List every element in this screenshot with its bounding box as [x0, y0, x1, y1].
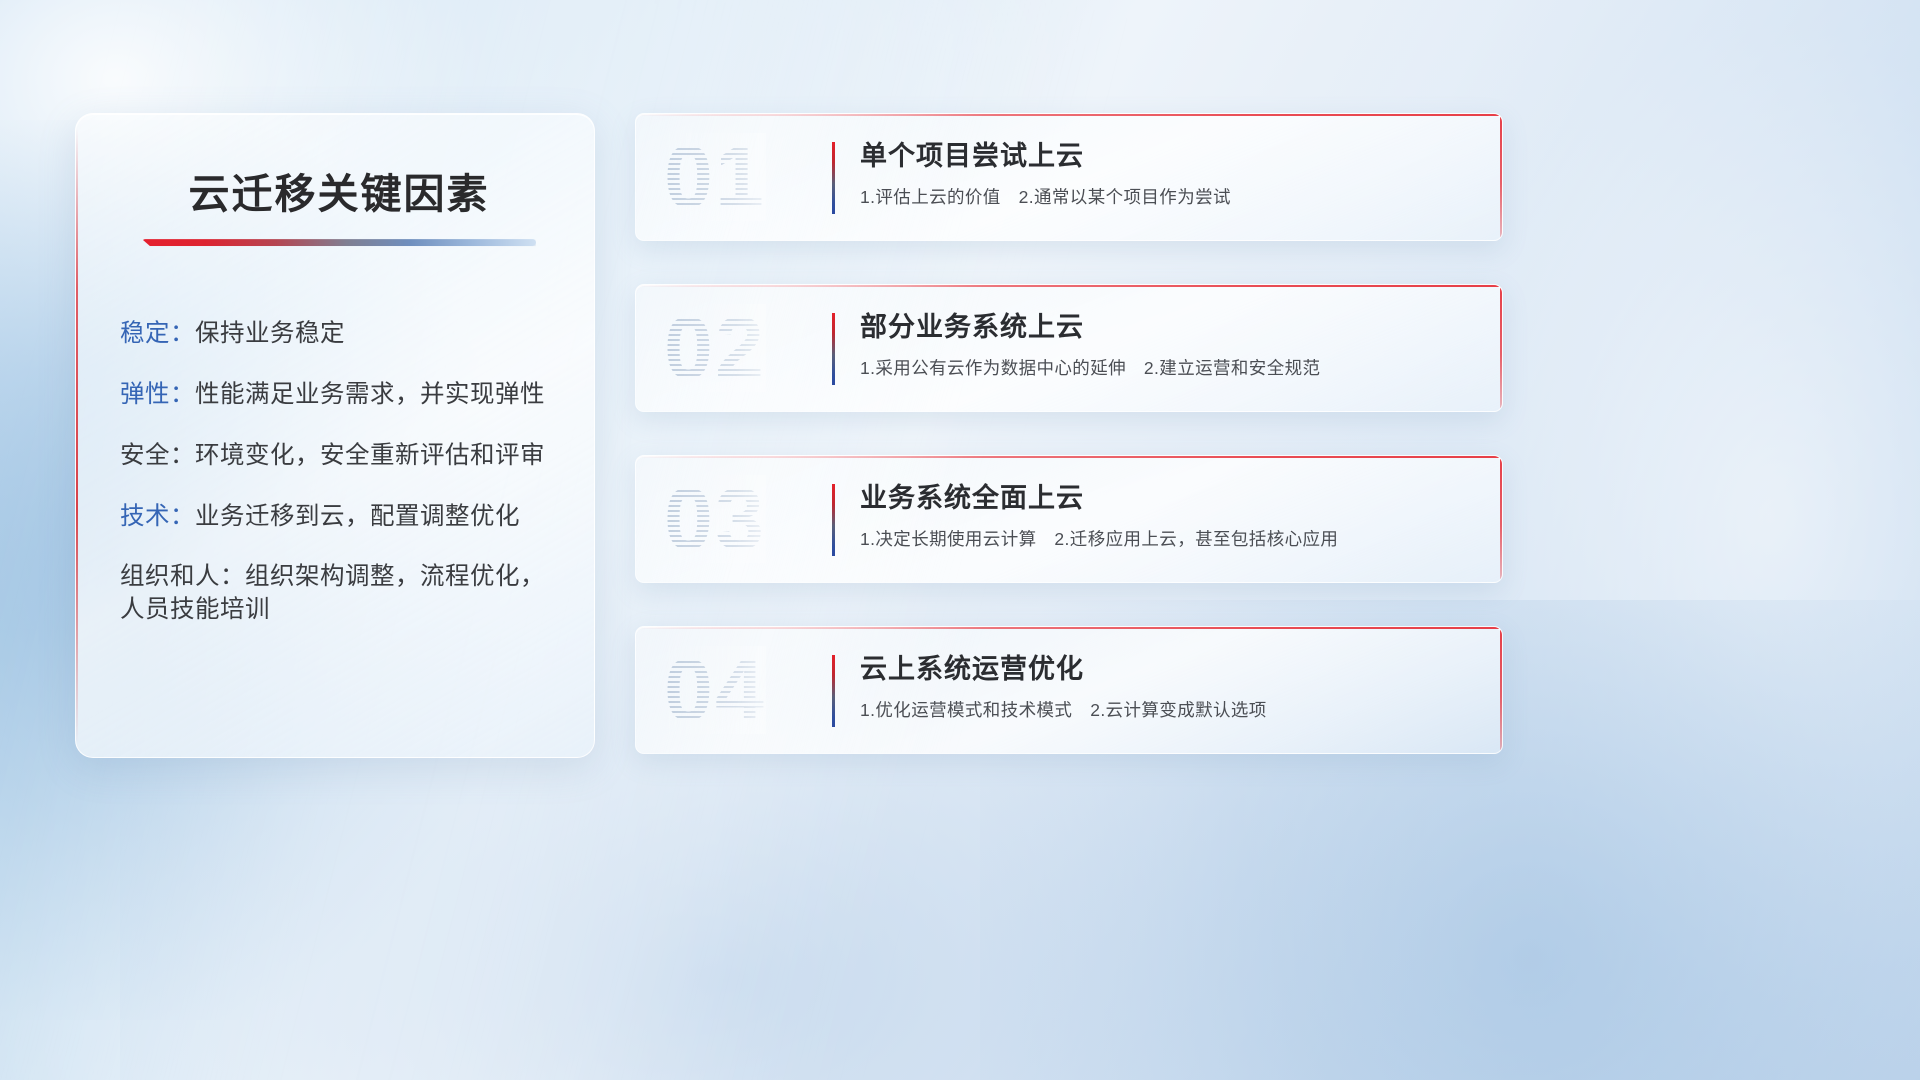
stage-title: 云上系统运营优化 [860, 653, 1462, 685]
title-underline-gradient [142, 239, 536, 246]
card-right-accent-line [1500, 285, 1502, 411]
stage-title: 部分业务系统上云 [860, 311, 1462, 343]
stage-divider-bar [832, 313, 835, 385]
stage-description: 1.优化运营模式和技术模式 2.云计算变成默认选项 [860, 699, 1462, 722]
migration-stage-card[interactable]: 03业务系统全面上云1.决定长期使用云计算 2.迁移应用上云，甚至包括核心应用 [635, 455, 1503, 583]
stage-divider-bar [832, 142, 835, 214]
migration-stage-card[interactable]: 02部分业务系统上云1.采用公有云作为数据中心的延伸 2.建立运营和安全规范 [635, 284, 1503, 412]
key-factor-label: 技术： [120, 503, 195, 530]
stage-title: 业务系统全面上云 [860, 482, 1462, 514]
stage-description: 1.评估上云的价值 2.通常以某个项目作为尝试 [860, 186, 1462, 209]
key-factor-text: 保持业务稳定 [195, 320, 345, 347]
migration-stages-list: 01单个项目尝试上云1.评估上云的价值 2.通常以某个项目作为尝试02部分业务系… [635, 113, 1503, 754]
key-factor-label: 弹性： [120, 381, 195, 408]
page-title: 云迁移关键因素 [120, 172, 558, 217]
key-factor-text: 环境变化，安全重新评估和评审 [195, 442, 545, 469]
stage-title: 单个项目尝试上云 [860, 140, 1462, 172]
stage-description: 1.决定长期使用云计算 2.迁移应用上云，甚至包括核心应用 [860, 528, 1462, 551]
card-right-accent-line [1500, 114, 1502, 240]
key-factor-item: 组织和人：组织架构调整，流程优化，人员技能培训 [120, 561, 558, 627]
key-factor-text: 业务迁移到云，配置调整优化 [195, 503, 520, 530]
card-top-accent-line [636, 627, 1502, 629]
key-factor-item: 弹性：性能满足业务需求，并实现弹性 [120, 379, 558, 412]
card-right-accent-line [1500, 456, 1502, 582]
migration-stage-card[interactable]: 01单个项目尝试上云1.评估上云的价值 2.通常以某个项目作为尝试 [635, 113, 1503, 241]
card-top-accent-line [636, 114, 1502, 116]
stage-number: 04 [664, 646, 766, 734]
key-factor-label: 安全： [120, 442, 195, 469]
key-factors-panel: 云迁移关键因素 稳定：保持业务稳定弹性：性能满足业务需求，并实现弹性安全：环境变… [75, 113, 595, 758]
card-right-accent-line [1500, 627, 1502, 753]
key-factor-label: 稳定： [120, 320, 195, 347]
stage-number: 01 [664, 133, 766, 221]
stage-divider-bar [832, 484, 835, 556]
card-top-accent-line [636, 285, 1502, 287]
key-factor-item: 安全：环境变化，安全重新评估和评审 [120, 440, 558, 473]
stage-number: 03 [664, 475, 766, 563]
key-factors-list: 稳定：保持业务稳定弹性：性能满足业务需求，并实现弹性安全：环境变化，安全重新评估… [120, 318, 558, 627]
key-factor-label: 组织和人： [120, 563, 245, 590]
key-factor-text: 性能满足业务需求，并实现弹性 [195, 381, 545, 408]
stage-number: 02 [664, 304, 766, 392]
key-factor-item: 技术：业务迁移到云，配置调整优化 [120, 501, 558, 534]
card-top-accent-line [636, 456, 1502, 458]
key-factor-item: 稳定：保持业务稳定 [120, 318, 558, 351]
stage-divider-bar [832, 655, 835, 727]
migration-stage-card[interactable]: 04云上系统运营优化1.优化运营模式和技术模式 2.云计算变成默认选项 [635, 626, 1503, 754]
stage-description: 1.采用公有云作为数据中心的延伸 2.建立运营和安全规范 [860, 357, 1462, 380]
